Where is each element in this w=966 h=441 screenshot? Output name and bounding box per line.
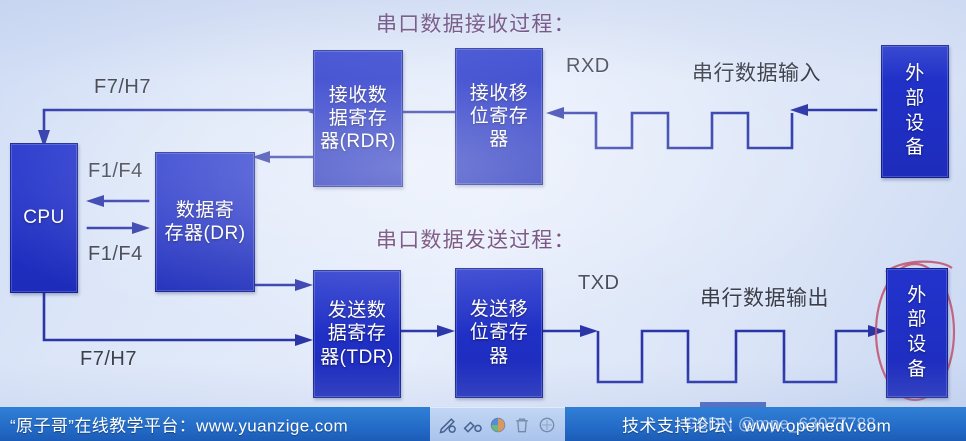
eraser-trash-icon[interactable]: [512, 415, 532, 435]
box-transmit-data-register[interactable]: 发送数 据寄存 器(TDR): [313, 270, 401, 398]
wire-tdr-to-txshift: [400, 325, 455, 337]
wire-cpu-to-tdr: [44, 293, 313, 346]
wire-rdr-to-cpu: [38, 110, 313, 148]
label-serial-data-input: 串行数据输入: [692, 57, 821, 87]
label-serial-data-output: 串行数据输出: [700, 282, 829, 312]
slide-canvas: 串口数据接收过程： 串口数据发送过程： CPU 数据寄 存器(DR) 接收数 据…: [0, 0, 966, 441]
box-txshift-line1: 发送移: [468, 298, 531, 321]
box-tdr-line3: 器(TDR): [318, 346, 396, 369]
ext-top-char-3: 备: [903, 136, 927, 161]
ext-bot-char-1: 部: [905, 308, 929, 333]
label-f1f4-upper: F1/F4: [88, 160, 143, 183]
box-rxshift-line1: 接收移: [468, 82, 531, 105]
ppt-presenter-toolbar[interactable]: [430, 407, 565, 441]
ext-top-char-1: 部: [903, 87, 927, 112]
box-dr-line1: 数据寄: [174, 199, 237, 222]
wire-dr-to-cpu: [86, 195, 148, 207]
csdn-watermark: CSDN @mpe_63077788: [684, 414, 876, 434]
ext-top-char-0: 外: [903, 62, 927, 87]
box-tdr-line2: 据寄存: [326, 322, 389, 345]
box-rxshift-line2: 位寄存: [468, 105, 531, 128]
box-receive-data-register[interactable]: 接收数 据寄存 器(RDR): [313, 50, 403, 187]
box-rdr-line1: 接收数: [327, 84, 390, 107]
box-dr-line2: 存器(DR): [162, 222, 247, 245]
ext-bot-char-3: 备: [905, 358, 929, 383]
label-rxd: RXD: [566, 55, 610, 78]
footer-left-text: “原子哥”在线教学平台：www.yuanzige.com: [10, 412, 348, 437]
box-tdr-line1: 发送数: [326, 299, 389, 322]
ext-bot-char-2: 设: [905, 333, 929, 358]
waveform-rxd: [546, 104, 876, 148]
label-txd: TXD: [578, 272, 620, 295]
box-txshift-line3: 器: [487, 345, 511, 368]
label-f7h7-top: F7/H7: [94, 76, 151, 99]
more-options-icon[interactable]: [537, 415, 557, 435]
box-data-register[interactable]: 数据寄 存器(DR): [155, 152, 255, 292]
box-rdr-line2: 据寄存: [327, 107, 390, 130]
section-title-transmit: 串口数据发送过程：: [376, 224, 576, 254]
label-f7h7-bottom: F7/H7: [80, 348, 137, 371]
label-f1f4-lower: F1/F4: [88, 243, 143, 266]
box-cpu[interactable]: CPU: [10, 143, 78, 293]
box-rxshift-line3: 器: [487, 128, 511, 151]
box-transmit-shift-register[interactable]: 发送移 位寄存 器: [455, 268, 543, 398]
ext-bot-char-0: 外: [905, 284, 929, 309]
section-title-receive: 串口数据接收过程：: [376, 8, 576, 38]
waveform-txd: [543, 325, 886, 382]
box-rdr-line3: 器(RDR): [318, 130, 398, 153]
highlighter-icon[interactable]: [463, 415, 483, 435]
wire-cpu-to-dr: [88, 222, 150, 234]
box-receive-shift-register[interactable]: 接收移 位寄存 器: [455, 48, 543, 185]
wire-rdr-to-dr: [252, 151, 313, 163]
box-txshift-line2: 位寄存: [468, 321, 531, 344]
wire-dr-to-tdr: [256, 279, 313, 291]
ext-top-char-2: 设: [903, 112, 927, 137]
box-cpu-label: CPU: [21, 206, 67, 229]
ink-color-icon[interactable]: [488, 415, 508, 435]
box-external-device-top[interactable]: 外 部 设 备: [881, 45, 949, 178]
box-external-device-bottom[interactable]: 外 部 设 备: [886, 268, 948, 398]
pen-icon[interactable]: [438, 415, 458, 435]
